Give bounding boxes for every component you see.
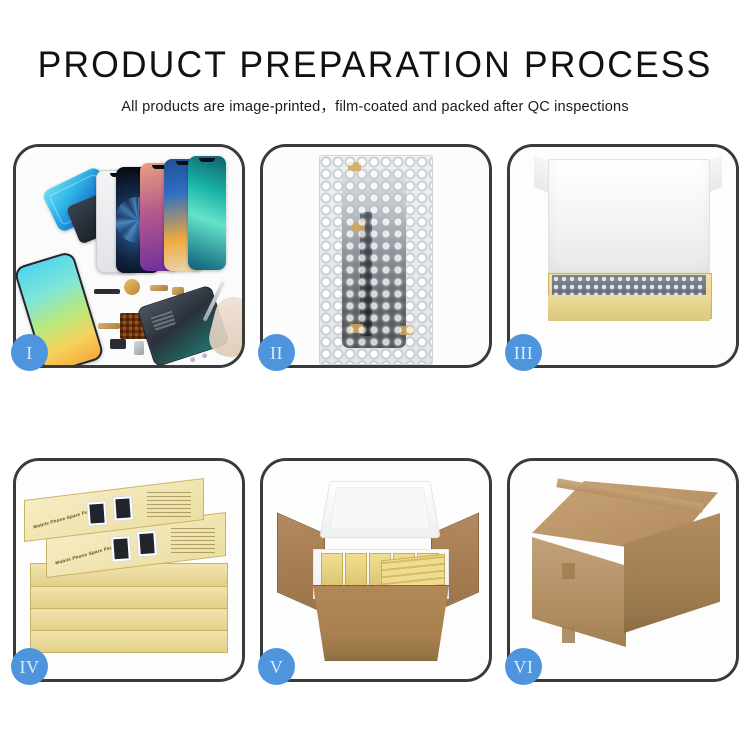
- step-panel-2: II: [260, 144, 492, 368]
- step-badge-4: IV: [11, 648, 48, 685]
- step-image-1: [16, 147, 242, 365]
- carton-body: [307, 585, 455, 661]
- sim-tray-icon: [134, 341, 144, 355]
- box-thumbnail-image: [86, 500, 108, 526]
- ribbon-cable-icon: [98, 323, 120, 329]
- box-yellow-front-face: [548, 295, 710, 321]
- stacked-box-edge: [30, 607, 228, 631]
- step-image-2: [263, 147, 489, 365]
- notch-icon: [199, 158, 215, 162]
- step-panel-1: I: [13, 144, 245, 368]
- step-image-6: [510, 461, 736, 679]
- carton-tape-patch: [562, 563, 575, 579]
- box-stack: Mobile Phone Spare Parts Mobile Phone Sp…: [24, 479, 238, 669]
- step-panel-4: Mobile Phone Spare Parts Mobile Phone Sp…: [13, 458, 245, 682]
- step-panel-6: VI: [507, 458, 739, 682]
- step-badge-5: V: [258, 648, 295, 685]
- step-image-4: Mobile Phone Spare Parts Mobile Phone Sp…: [16, 461, 242, 679]
- screw-icon: [202, 353, 207, 358]
- box-thumbnail-image: [136, 530, 158, 557]
- stacked-box-edge: [30, 629, 228, 653]
- phone-display-teal-icon: [188, 156, 226, 270]
- carton-left-face: [532, 537, 626, 647]
- flex-cable-icon: [150, 285, 168, 291]
- box-thumbnail-image: [110, 535, 132, 562]
- step-panel-3: III: [507, 144, 739, 368]
- step-badge-3: III: [505, 334, 542, 371]
- bubble-texture-overlay: [320, 156, 432, 364]
- box-label-text: Mobile Phone Spare Parts: [33, 508, 95, 530]
- stacked-box-edge: [30, 585, 228, 609]
- process-grid: I II: [13, 144, 739, 682]
- bubble-wrap-bag: [319, 155, 433, 365]
- box-thumbnail-image: [112, 495, 134, 521]
- carton-tape-patch: [562, 627, 575, 643]
- earpiece-mesh-icon: [94, 289, 120, 294]
- box-white-lid: [548, 159, 710, 279]
- step-badge-6: VI: [505, 648, 542, 685]
- speaker-part-icon: [124, 279, 140, 295]
- infographic-page: PRODUCT PREPARATION PROCESS All products…: [0, 0, 750, 750]
- screw-icon: [190, 357, 195, 362]
- box-spec-text-block: [147, 489, 191, 517]
- step-image-3: [510, 147, 736, 365]
- step-image-5: [263, 461, 489, 679]
- step-panel-5: V: [260, 458, 492, 682]
- bubble-wrap-fill: [552, 275, 706, 297]
- step-badge-1: I: [11, 334, 48, 371]
- foam-box-lid: [319, 481, 440, 538]
- box-spec-text-block: [171, 525, 215, 553]
- step-badge-2: II: [258, 334, 295, 371]
- box-label-text: Mobile Phone Spare Parts: [55, 544, 117, 566]
- page-title: PRODUCT PREPARATION PROCESS: [15, 0, 735, 86]
- page-subtitle: All products are image-printed，film-coat…: [0, 86, 750, 117]
- header: PRODUCT PREPARATION PROCESS All products…: [0, 0, 750, 117]
- vibrator-motor-icon: [110, 339, 126, 349]
